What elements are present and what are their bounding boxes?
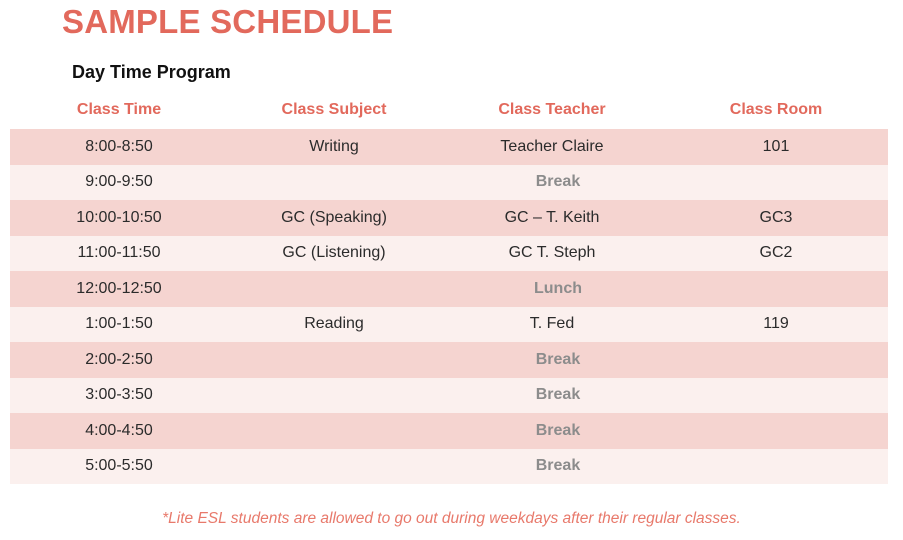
column-header-class-room: Class Room (664, 90, 888, 129)
table-row: 1:00-1:50ReadingT. Fed119 (10, 307, 888, 343)
cell-class-time: 8:00-8:50 (10, 129, 228, 165)
column-header-class-time: Class Time (10, 90, 228, 129)
cell-class-time: 9:00-9:50 (10, 165, 228, 201)
cell-break-label: Break (228, 449, 888, 485)
cell-class-subject: Writing (228, 129, 440, 165)
cell-break-label: Lunch (228, 271, 888, 307)
cell-class-teacher: GC T. Steph (440, 236, 664, 272)
cell-class-time: 4:00-4:50 (10, 413, 228, 449)
cell-class-time: 1:00-1:50 (10, 307, 228, 343)
table-row: 12:00-12:50Lunch (10, 271, 888, 307)
schedule-table: Class Time Class Subject Class Teacher C… (10, 90, 888, 484)
cell-class-time: 3:00-3:50 (10, 378, 228, 414)
program-subtitle: Day Time Program (72, 60, 231, 84)
table-row: 4:00-4:50Break (10, 413, 888, 449)
column-header-class-subject: Class Subject (228, 90, 440, 129)
cell-class-room: GC2 (664, 236, 888, 272)
footnote: *Lite ESL students are allowed to go out… (0, 508, 903, 530)
cell-class-time: 2:00-2:50 (10, 342, 228, 378)
cell-class-time: 11:00-11:50 (10, 236, 228, 272)
cell-class-room: 119 (664, 307, 888, 343)
cell-class-room: GC3 (664, 200, 888, 236)
table-row: 5:00-5:50Break (10, 449, 888, 485)
table-row: 2:00-2:50Break (10, 342, 888, 378)
cell-class-time: 12:00-12:50 (10, 271, 228, 307)
cell-class-time: 10:00-10:50 (10, 200, 228, 236)
cell-class-subject: GC (Speaking) (228, 200, 440, 236)
table-header: Class Time Class Subject Class Teacher C… (10, 90, 888, 129)
cell-break-label: Break (228, 342, 888, 378)
cell-class-subject: GC (Listening) (228, 236, 440, 272)
table-row: 8:00-8:50WritingTeacher Claire101 (10, 129, 888, 165)
table-row: 10:00-10:50GC (Speaking)GC – T. KeithGC3 (10, 200, 888, 236)
table-row: 3:00-3:50Break (10, 378, 888, 414)
cell-class-teacher: Teacher Claire (440, 129, 664, 165)
schedule-page: SAMPLE SCHEDULE Day Time Program Class T… (0, 0, 903, 540)
cell-break-label: Break (228, 413, 888, 449)
cell-class-teacher: GC – T. Keith (440, 200, 664, 236)
cell-class-teacher: T. Fed (440, 307, 664, 343)
table-body: 8:00-8:50WritingTeacher Claire1019:00-9:… (10, 129, 888, 484)
cell-break-label: Break (228, 165, 888, 201)
table-row: 9:00-9:50Break (10, 165, 888, 201)
page-title: SAMPLE SCHEDULE (62, 2, 393, 42)
cell-class-room: 101 (664, 129, 888, 165)
cell-class-subject: Reading (228, 307, 440, 343)
cell-class-time: 5:00-5:50 (10, 449, 228, 485)
cell-break-label: Break (228, 378, 888, 414)
column-header-class-teacher: Class Teacher (440, 90, 664, 129)
table-row: 11:00-11:50GC (Listening)GC T. StephGC2 (10, 236, 888, 272)
header-row: Class Time Class Subject Class Teacher C… (10, 90, 888, 129)
